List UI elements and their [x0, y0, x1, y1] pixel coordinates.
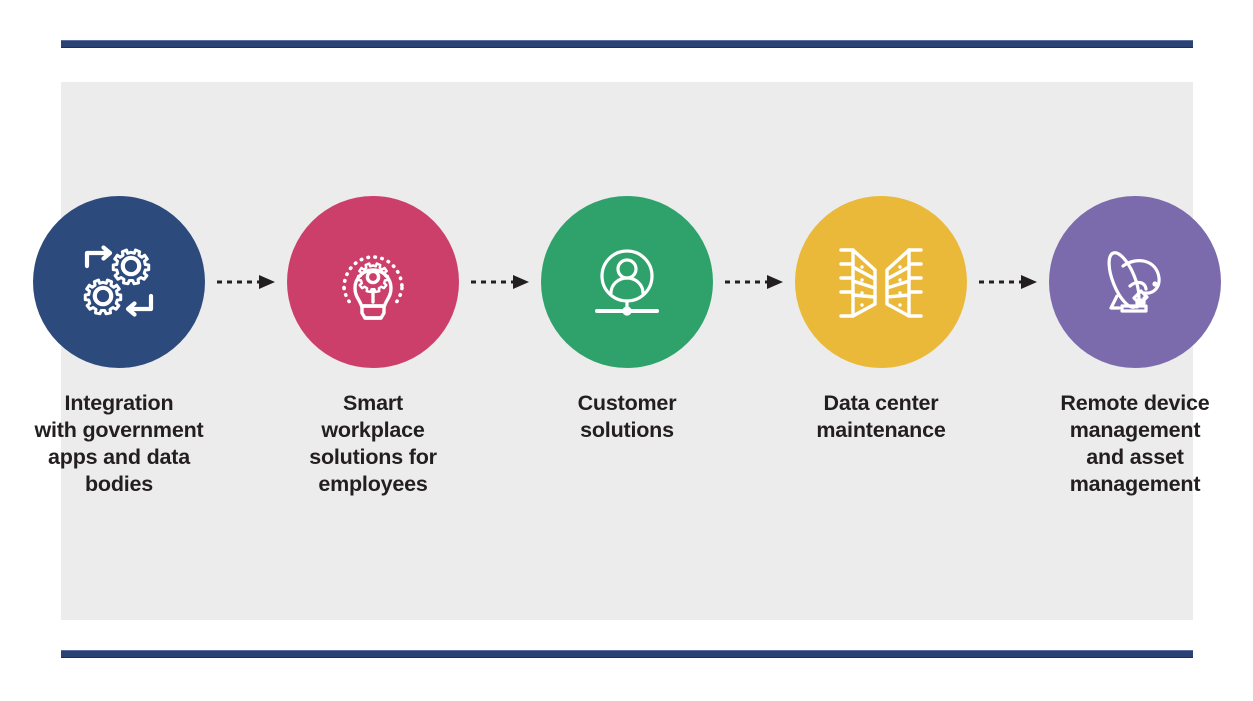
step-5-circle[interactable]	[1049, 196, 1221, 368]
dashed-arrow-right-icon	[723, 274, 785, 290]
user-network-icon	[581, 236, 673, 328]
top-divider-rule	[61, 40, 1193, 48]
dashed-arrow-right-icon	[469, 274, 531, 290]
dashed-arrow-right-icon	[977, 274, 1039, 290]
step-2-circle[interactable]	[287, 196, 459, 368]
step-1-label: Integration with government apps and dat…	[12, 390, 227, 498]
connector-1-2	[214, 196, 278, 368]
process-step-3[interactable]: Customer solutions	[532, 196, 722, 444]
process-step-2[interactable]: Smart workplace solutions for employees	[278, 196, 468, 498]
step-2-label: Smart workplace solutions for employees	[266, 390, 481, 498]
bottom-divider-rule	[61, 650, 1193, 658]
connector-2-3	[468, 196, 532, 368]
step-3-label: Customer solutions	[520, 390, 735, 444]
gears-sync-icon	[73, 236, 165, 328]
process-flow-diagram: Integration with government apps and dat…	[61, 196, 1193, 498]
server-racks-icon	[831, 236, 931, 328]
step-4-circle[interactable]	[795, 196, 967, 368]
process-step-1[interactable]: Integration with government apps and dat…	[24, 196, 214, 498]
step-1-circle[interactable]	[33, 196, 205, 368]
step-4-label: Data center maintenance	[774, 390, 989, 444]
step-5-label: Remote device management and asset manag…	[1028, 390, 1243, 498]
connector-4-5	[976, 196, 1040, 368]
connector-3-4	[722, 196, 786, 368]
process-step-5[interactable]: Remote device management and asset manag…	[1040, 196, 1230, 498]
process-step-4[interactable]: Data center maintenance	[786, 196, 976, 444]
satellite-dish-icon	[1089, 236, 1181, 328]
dashed-arrow-right-icon	[215, 274, 277, 290]
lightbulb-gear-icon	[327, 236, 419, 328]
step-3-circle[interactable]	[541, 196, 713, 368]
